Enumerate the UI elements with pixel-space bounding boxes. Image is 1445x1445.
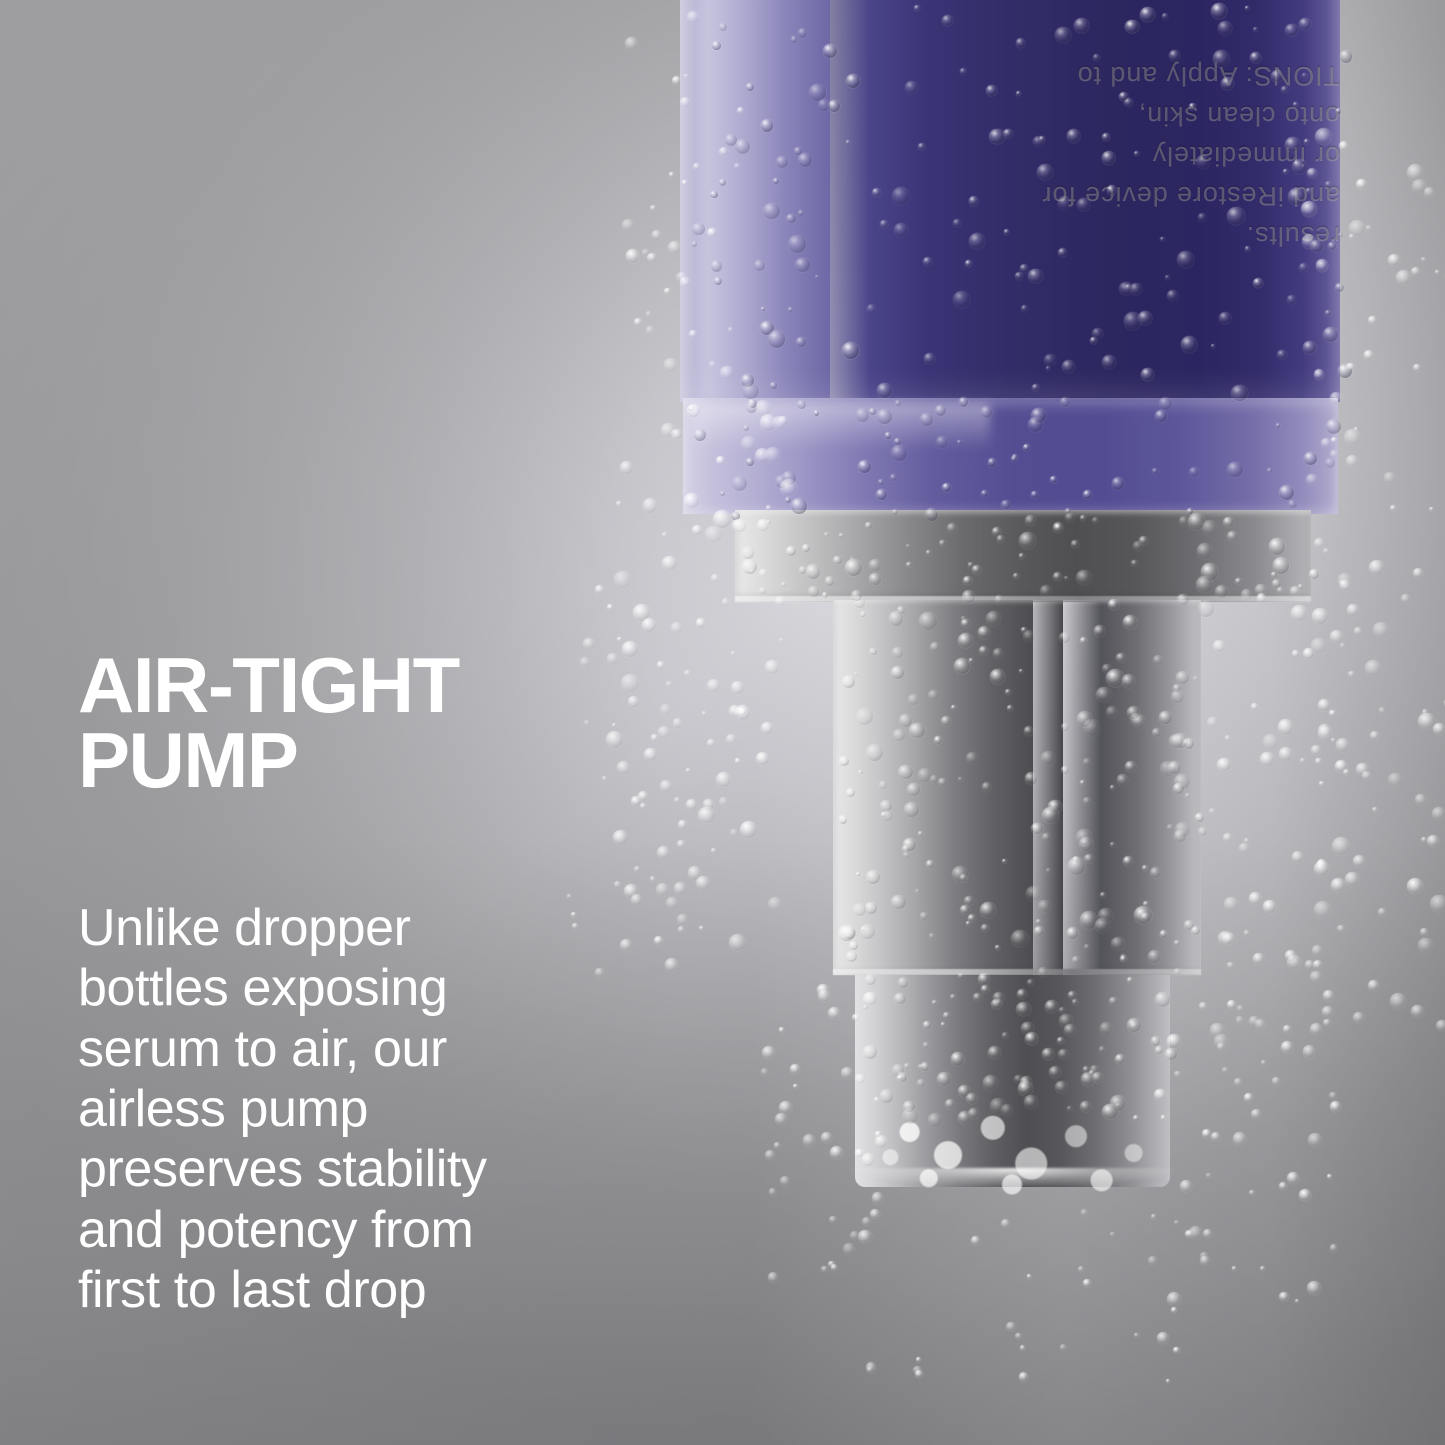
nozzle-drip-lip [850, 1168, 1176, 1188]
product-feature-image: results. and iRestore device for or imme… [0, 0, 1445, 1445]
headline-line-1: AIR-TIGHT [78, 648, 718, 723]
body-copy: Unlike dropper bottles exposing serum to… [78, 898, 548, 1320]
pump-housing [833, 600, 1201, 975]
page-title: AIR-TIGHT PUMP [78, 648, 718, 798]
band-gloss [690, 404, 990, 450]
pump-collar [735, 510, 1311, 602]
headline-line-2: PUMP [78, 723, 718, 798]
bottle-highlight [700, 0, 820, 402]
